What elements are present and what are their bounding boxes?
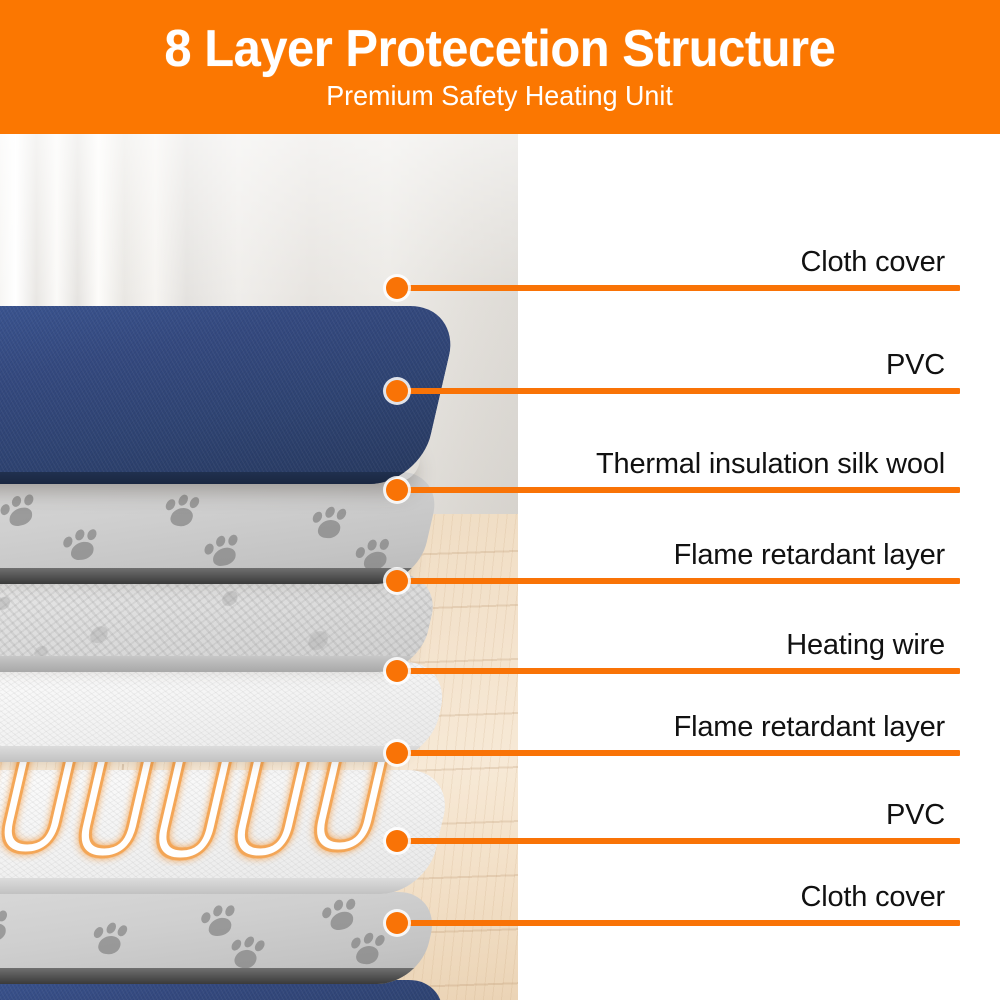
layer-4-flame-retardant xyxy=(0,662,452,762)
layer-label-4: Flame retardant layer xyxy=(674,539,945,572)
leader-dot-5 xyxy=(386,660,408,682)
leader-dot-3 xyxy=(386,479,408,501)
paw-print-icon xyxy=(84,919,137,959)
layer-5-heating-wire xyxy=(0,756,453,866)
paw-print-icon xyxy=(201,531,246,572)
layer-6-edge xyxy=(0,878,429,894)
layer-3-edge xyxy=(0,656,422,672)
leader-line-4 xyxy=(397,578,960,584)
leader-dot-1 xyxy=(386,277,408,299)
product-photo xyxy=(0,134,518,1000)
layer-label-7: PVC xyxy=(886,799,945,832)
layer-label-1: Cloth cover xyxy=(801,246,945,279)
leader-line-1 xyxy=(397,285,960,291)
page-title: 8 Layer Protecetion Structure xyxy=(165,22,836,77)
layer-2-edge xyxy=(0,568,421,584)
paw-print-icon xyxy=(304,504,356,542)
layer-7-edge xyxy=(0,968,423,984)
header-banner: 8 Layer Protecetion Structure Premium Sa… xyxy=(0,0,1000,134)
leader-dot-4 xyxy=(386,570,408,592)
layer-label-2: PVC xyxy=(886,349,945,382)
paw-print-icon xyxy=(0,906,15,948)
leader-line-2 xyxy=(397,388,960,394)
leader-dot-2 xyxy=(386,380,408,402)
paw-print-icon xyxy=(157,492,209,531)
page-subtitle: Premium Safety Heating Unit xyxy=(327,81,674,112)
leader-line-6 xyxy=(397,750,960,756)
layer-label-5: Heating wire xyxy=(786,629,945,662)
paw-print-icon xyxy=(319,895,364,935)
layer-3-silk-wool xyxy=(0,574,441,672)
layer-4-edge xyxy=(0,746,432,762)
leader-dot-8 xyxy=(386,912,408,934)
leader-line-5 xyxy=(397,668,960,674)
paw-print-icon xyxy=(59,526,106,564)
infographic-page: 8 Layer Protecetion Structure Premium Sa… xyxy=(0,0,1000,1000)
layer-2-pvc xyxy=(0,472,443,584)
paw-print-icon xyxy=(342,930,394,968)
leader-line-7 xyxy=(397,838,960,844)
layer-1-edge xyxy=(0,472,422,484)
layer-label-8: Cloth cover xyxy=(801,881,945,914)
leader-dot-7 xyxy=(386,830,408,852)
layer-7-pvc xyxy=(0,892,441,984)
leader-line-3 xyxy=(397,487,960,493)
leader-line-8 xyxy=(397,920,960,926)
layer-label-3: Thermal insulation silk wool xyxy=(596,448,945,481)
leader-dot-6 xyxy=(386,742,408,764)
paw-print-icon xyxy=(0,490,42,532)
heating-wire-serpentine xyxy=(0,756,453,866)
layer-label-6: Flame retardant layer xyxy=(674,711,945,744)
